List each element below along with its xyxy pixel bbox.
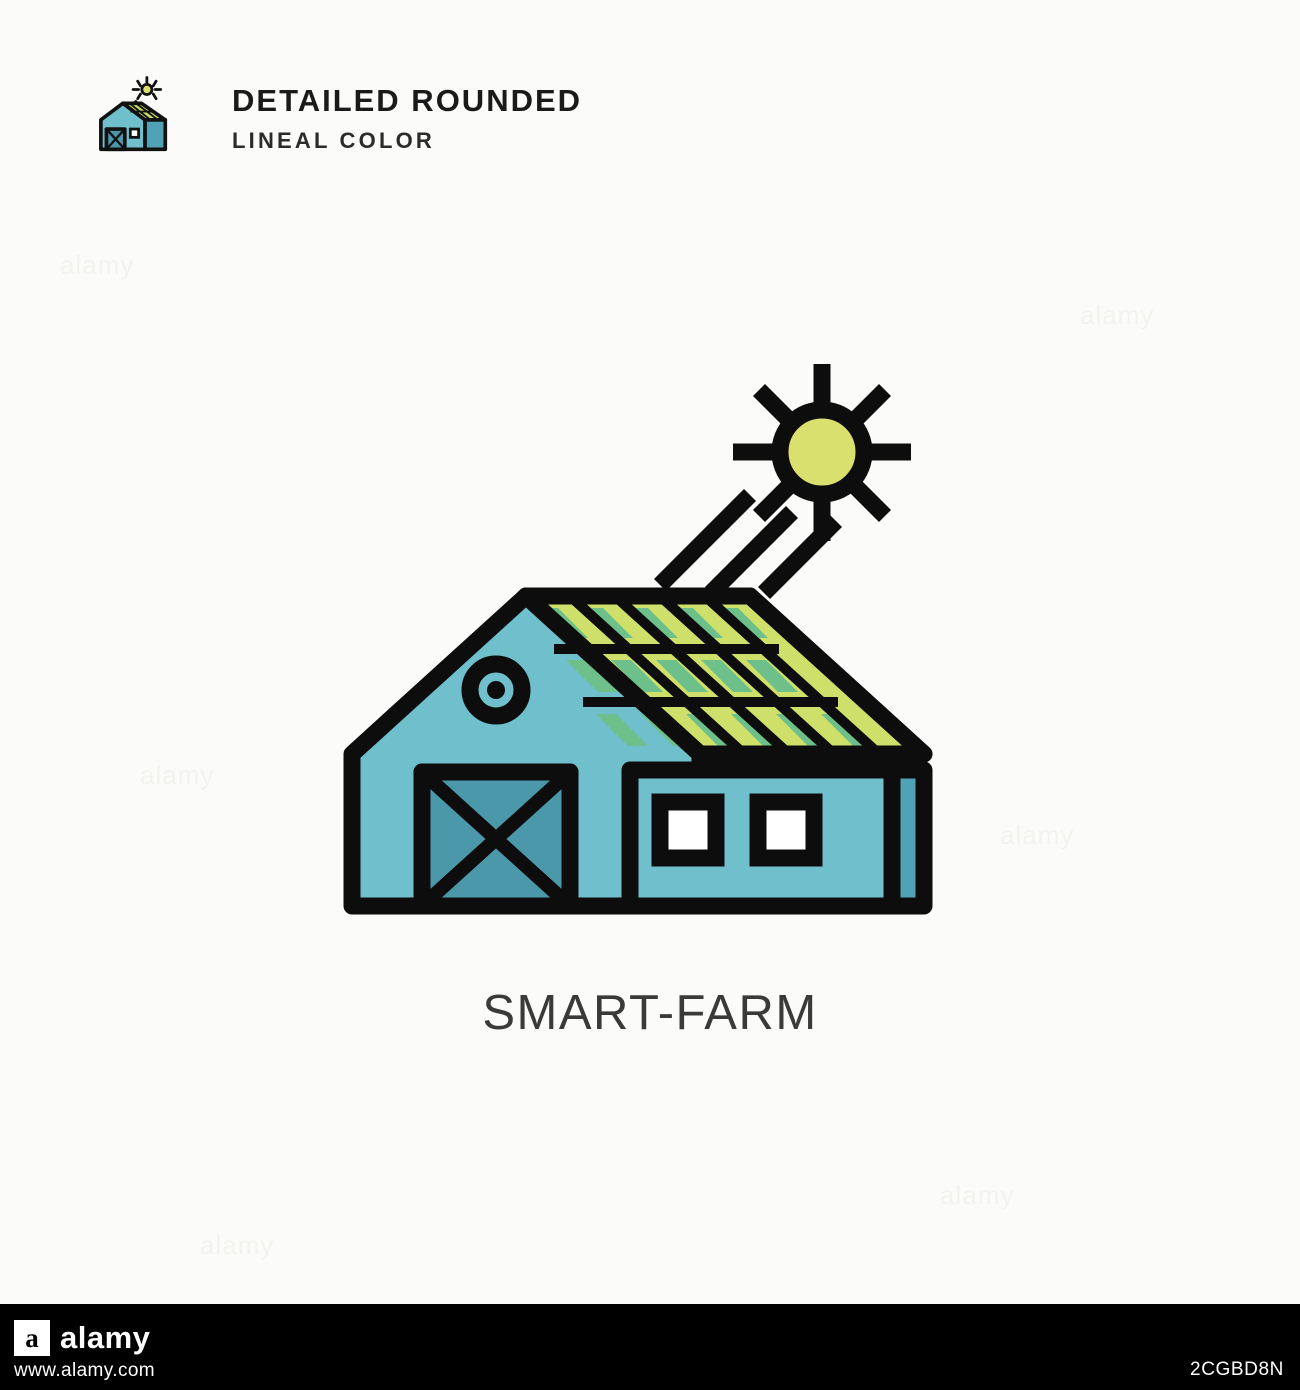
watermark-text: alamy bbox=[140, 760, 214, 791]
alamy-image-id: 2CGBD8N bbox=[1190, 1359, 1284, 1381]
image-canvas: alamy alamy alamy alamy alamy alamy bbox=[0, 0, 1300, 1390]
watermark-text: alamy bbox=[60, 250, 134, 281]
page-title: SMART-FARM bbox=[0, 985, 1300, 1041]
alamy-url: www.alamy.com bbox=[14, 1360, 155, 1382]
brand-text-block: DETAILED ROUNDED LINEAL COLOR bbox=[232, 82, 582, 157]
alamy-wordmark: alamy bbox=[60, 1320, 150, 1356]
brand-header: DETAILED ROUNDED LINEAL COLOR bbox=[88, 76, 582, 164]
svg-text:a: a bbox=[25, 1323, 39, 1353]
alamy-logo-icon: a bbox=[14, 1320, 50, 1356]
smart-farm-icon bbox=[330, 340, 970, 940]
watermark-text: alamy bbox=[200, 1230, 274, 1261]
alamy-footer-bar: a alamy www.alamy.com 2CGBD8N bbox=[0, 1304, 1300, 1390]
sun-beam-icon bbox=[660, 495, 836, 593]
watermark-text: alamy bbox=[1000, 820, 1074, 851]
brand-line-secondary: LINEAL COLOR bbox=[232, 125, 582, 157]
alamy-brand-block: a alamy bbox=[14, 1320, 150, 1356]
brand-line-primary: DETAILED ROUNDED bbox=[232, 82, 582, 121]
watermark-text: alamy bbox=[940, 1180, 1014, 1211]
smart-farm-barn-icon bbox=[88, 72, 180, 164]
watermark-text: alamy bbox=[1080, 300, 1154, 331]
